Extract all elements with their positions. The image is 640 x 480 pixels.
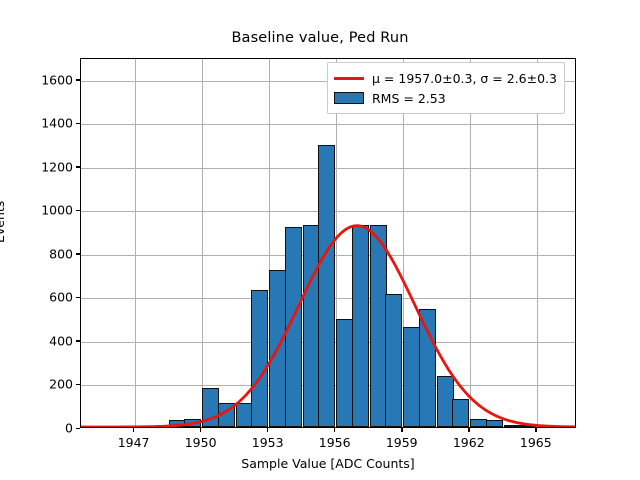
gridline-vertical — [470, 59, 471, 427]
histogram-bar — [537, 425, 554, 427]
histogram-bar — [370, 225, 387, 427]
x-tick-mark — [401, 428, 402, 432]
histogram-bar — [519, 425, 536, 427]
y-tick-label: 1200 — [27, 159, 73, 174]
y-tick-label: 800 — [27, 246, 73, 261]
x-tick-mark — [468, 428, 469, 432]
x-tick-mark — [535, 428, 536, 432]
histogram-bar — [352, 225, 369, 427]
histogram-bar — [504, 425, 521, 427]
legend-item-fit-label: μ = 1957.0±0.3, σ = 2.6±0.3 — [372, 71, 557, 86]
gridline-vertical — [537, 59, 538, 427]
x-tick-label: 1953 — [238, 435, 298, 450]
histogram-bar — [218, 403, 235, 427]
histogram-bar — [419, 309, 436, 427]
x-tick-mark — [334, 428, 335, 432]
y-tick-label: 400 — [27, 333, 73, 348]
histogram-bar — [437, 376, 454, 427]
y-tick-label: 600 — [27, 290, 73, 305]
x-tick-label: 1965 — [506, 435, 566, 450]
chart-legend: μ = 1957.0±0.3, σ = 2.6±0.3 RMS = 2.53 — [327, 62, 565, 114]
x-tick-label: 1959 — [372, 435, 432, 450]
histogram-bar — [184, 419, 201, 427]
histogram-bar — [251, 290, 268, 427]
histogram-bar — [202, 388, 219, 427]
patch-swatch-icon — [334, 92, 364, 104]
histogram-bar — [169, 420, 186, 427]
x-axis-label: Sample Value [ADC Counts] — [80, 456, 576, 471]
y-axis-label: Events — [0, 201, 7, 243]
y-tick-label: 0 — [27, 421, 73, 436]
legend-item-fit: μ = 1957.0±0.3, σ = 2.6±0.3 — [334, 68, 557, 88]
histogram-bar — [318, 145, 335, 427]
chart-title: Baseline value, Ped Run — [0, 30, 640, 46]
histogram-bar — [403, 327, 420, 427]
y-tick-label: 1400 — [27, 116, 73, 131]
histogram-bar — [303, 225, 320, 427]
y-tick-label: 1600 — [27, 72, 73, 87]
histogram-bar — [336, 319, 353, 427]
y-tick-label: 1000 — [27, 203, 73, 218]
x-tick-label: 1962 — [439, 435, 499, 450]
histogram-bar — [486, 420, 503, 427]
histogram-bar — [470, 419, 487, 427]
histogram-bar — [452, 399, 469, 427]
gridline-horizontal — [81, 124, 575, 125]
x-tick-mark — [200, 428, 201, 432]
histogram-bar — [385, 294, 402, 427]
x-tick-label: 1947 — [104, 435, 164, 450]
x-tick-mark — [267, 428, 268, 432]
histogram-bar — [285, 227, 302, 427]
gridline-vertical — [135, 59, 136, 427]
legend-item-histogram: RMS = 2.53 — [334, 88, 557, 108]
histogram-bar — [236, 403, 253, 427]
histogram-bar — [269, 270, 286, 427]
x-tick-label: 1956 — [305, 435, 365, 450]
x-tick-mark — [133, 428, 134, 432]
figure-canvas: Baseline value, Ped Run Events Sample Va… — [0, 0, 640, 480]
line-swatch-icon — [334, 72, 364, 85]
gridline-vertical — [202, 59, 203, 427]
x-tick-label: 1950 — [171, 435, 231, 450]
legend-item-histogram-label: RMS = 2.53 — [372, 91, 446, 106]
y-tick-label: 200 — [27, 377, 73, 392]
